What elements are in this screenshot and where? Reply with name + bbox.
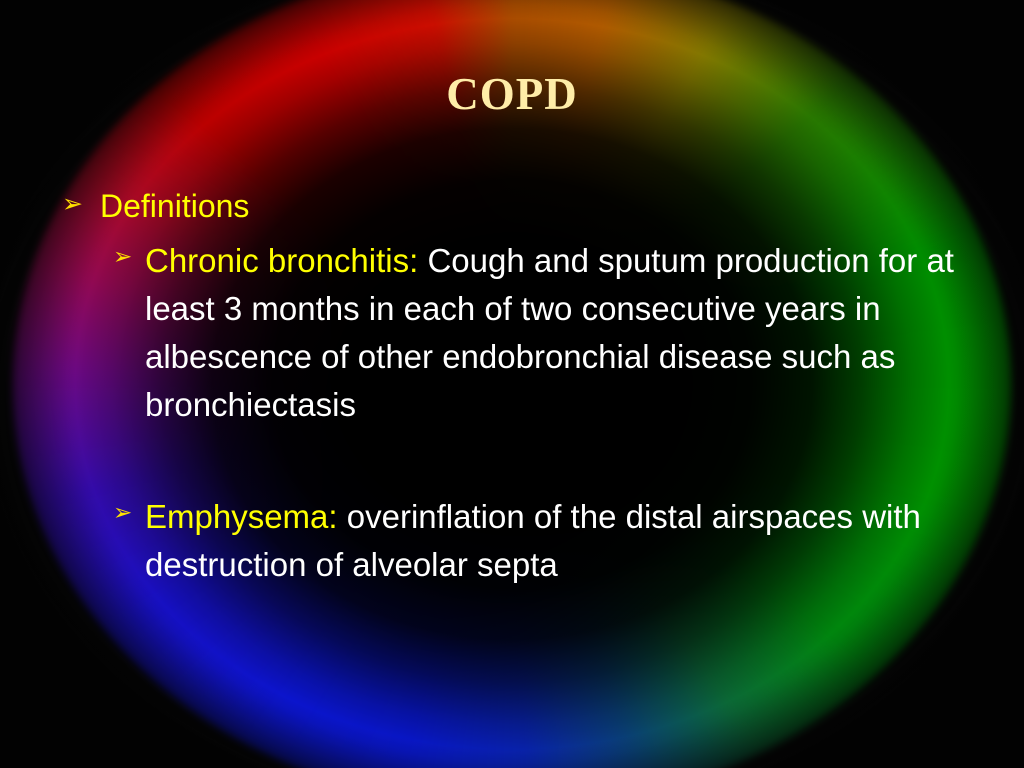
slide-title: COPD: [0, 68, 1024, 120]
slide-content: COPD ➢ Definitions ➢ Chronic bronchitis:…: [0, 0, 1024, 768]
bullet-item-emphysema: ➢ Emphysema: overinflation of the distal…: [0, 493, 1024, 589]
arrowhead-bullet-icon: ➢: [113, 501, 132, 524]
bullet-label-definitions: Definitions: [100, 185, 249, 227]
paragraph-spacer: [0, 429, 1024, 493]
slide-canvas: COPD ➢ Definitions ➢ Chronic bronchitis:…: [0, 0, 1024, 768]
term-emphysema: Emphysema: [145, 498, 328, 535]
term-chronic-bronchitis: Chronic bronchitis: [145, 242, 409, 279]
arrowhead-bullet-icon: ➢: [62, 185, 100, 217]
arrowhead-bullet-icon: ➢: [113, 245, 132, 268]
paragraph-emphysema: Emphysema: overinflation of the distal a…: [0, 493, 1024, 589]
term-separator: :: [328, 498, 337, 535]
bullet-item-chronic-bronchitis: ➢ Chronic bronchitis: Cough and sputum p…: [0, 237, 1024, 429]
paragraph-chronic-bronchitis: Chronic bronchitis: Cough and sputum pro…: [0, 237, 1024, 429]
term-separator: :: [409, 242, 418, 279]
bullet-list: ➢ Definitions ➢ Chronic bronchitis: Coug…: [0, 185, 1024, 589]
bullet-item-definitions: ➢ Definitions: [0, 185, 1024, 227]
